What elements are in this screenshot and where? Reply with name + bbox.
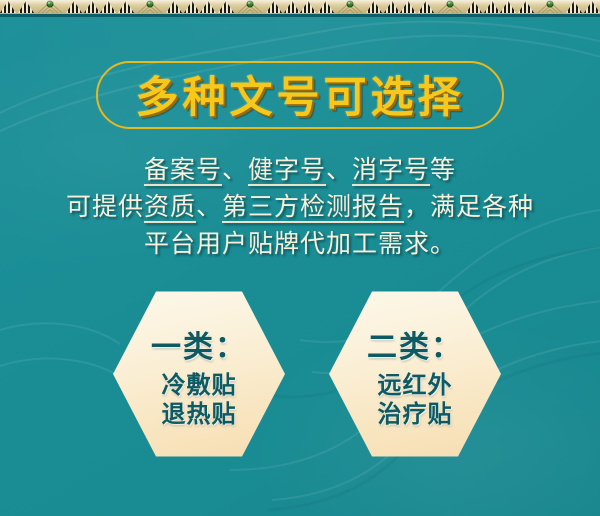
body-line-1-segment-6: 等 xyxy=(430,157,456,184)
body-line-3: 平台用户贴牌代加工需求。 xyxy=(0,226,600,263)
body-line-1-segment-5: 消字号 xyxy=(352,157,430,184)
body-line-1-segment-1: 备案号 xyxy=(144,157,222,184)
body-line-2-segment-4: 第三方检测报告 xyxy=(222,194,404,221)
category-one-heading: 一类： xyxy=(151,322,247,366)
body-line-2-segment-5: ，满足各种 xyxy=(404,194,534,221)
body-line-1: 备案号、健字号、消字号等 xyxy=(0,152,600,189)
body-line-2-segment-3: 、 xyxy=(196,194,222,221)
category-one-items: 冷敷贴 退热贴 xyxy=(162,372,237,430)
category-two-item-1: 远红外 xyxy=(378,372,453,401)
body-copy: 备案号、健字号、消字号等 可提供资质、第三方检测报告，满足各种 平台用户贴牌代加… xyxy=(0,152,600,263)
category-two-items: 远红外 治疗贴 xyxy=(378,372,453,430)
category-two-heading: 二类： xyxy=(367,322,463,366)
category-card-two: 二类： 远红外 治疗贴 xyxy=(329,288,501,460)
promo-poster: 多种文号可选择 备案号、健字号、消字号等 可提供资质、第三方检测报告，满足各种 … xyxy=(0,0,600,516)
category-one-item-2: 退热贴 xyxy=(162,401,237,430)
body-line-2: 可提供资质、第三方检测报告，满足各种 xyxy=(0,189,600,226)
category-card-one: 一类： 冷敷贴 退热贴 xyxy=(113,288,285,460)
border-highlight xyxy=(0,0,600,5)
body-line-1-segment-3: 健字号 xyxy=(248,157,326,184)
body-line-1-segment-4: 、 xyxy=(326,157,352,184)
body-line-2-segment-2: 资质 xyxy=(144,194,196,221)
category-two-item-2: 治疗贴 xyxy=(378,401,453,430)
body-line-3-segment-1: 平台用户贴牌代加工需求。 xyxy=(144,231,456,258)
top-ornamental-border xyxy=(0,0,600,17)
body-line-1-segment-2: 、 xyxy=(222,157,248,184)
title-frame: 多种文号可选择 xyxy=(96,61,504,129)
body-line-2-segment-1: 可提供 xyxy=(66,194,144,221)
page-title: 多种文号可选择 xyxy=(136,63,465,125)
category-one-item-1: 冷敷贴 xyxy=(162,372,237,401)
